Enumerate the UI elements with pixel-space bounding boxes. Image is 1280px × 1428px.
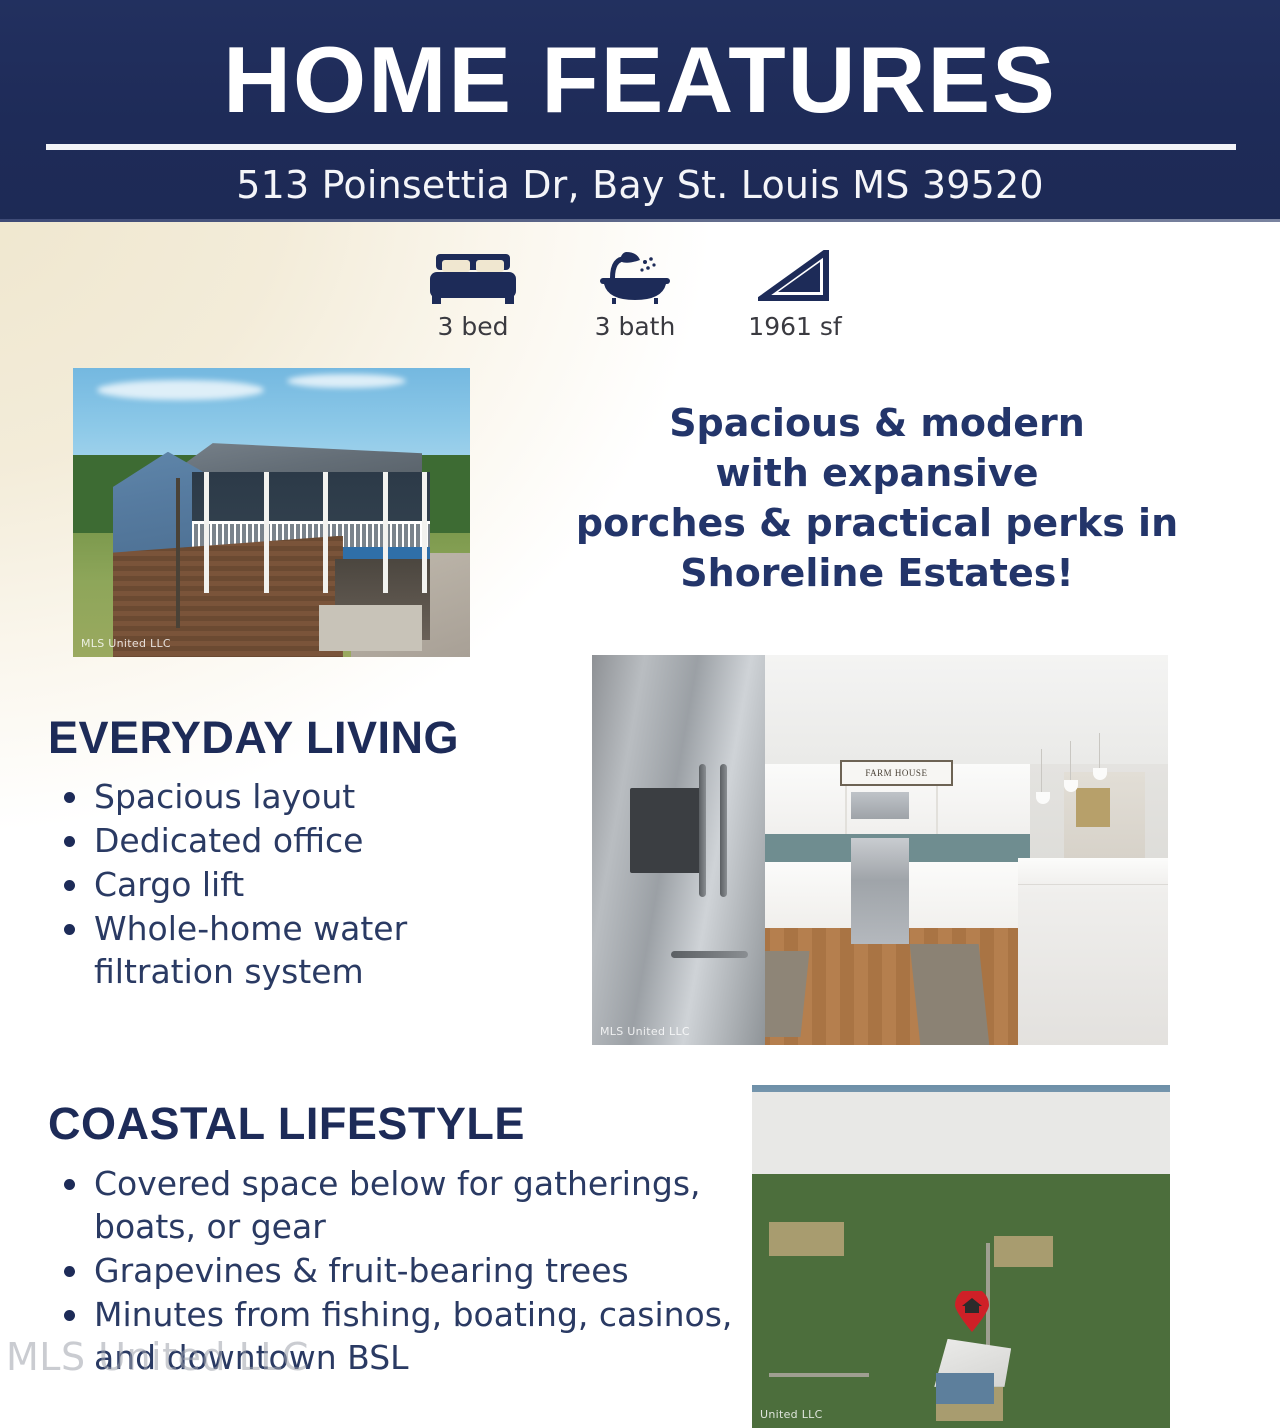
porch-post [422, 472, 427, 593]
flyer-header: HOME FEATURES 513 Poinsettia Dr, Bay St.… [0, 0, 1280, 222]
photo-watermark: MLS United LLC [600, 1025, 690, 1039]
exterior-elevated-home-photo: MLS United LLC [73, 368, 470, 657]
list-item: Spacious layout [48, 775, 518, 818]
stat-bath-label: 3 bath [560, 312, 710, 342]
list-item: Cargo lift [48, 863, 518, 906]
tagline-line-4: Shoreline Estates! [512, 548, 1242, 598]
concrete-slab [319, 605, 422, 651]
clearing [994, 1236, 1053, 1267]
road [769, 1373, 869, 1377]
stat-bed-label: 3 bed [398, 312, 548, 342]
header-divider [46, 144, 1236, 150]
range-oven [851, 838, 909, 943]
porch-post [383, 472, 388, 593]
stat-sqft-label: 1961 sf [720, 312, 870, 342]
kitchen-interior-photo: FARM HOUSE MLS United LLC [592, 655, 1168, 1045]
floor-runner [909, 944, 989, 1045]
list-item: Grapevines & fruit-bearing trees [48, 1249, 738, 1292]
tagline-line-3: porches & practical perks in [512, 498, 1242, 548]
map-pin-home-icon [951, 1291, 993, 1333]
stat-bath: 3 bath [560, 248, 710, 348]
tagline-line-2: with expansive [512, 448, 1242, 498]
pendant-cord [1099, 733, 1100, 772]
photo-watermark: MLS United LLC [81, 637, 171, 651]
tagline-line-1: Spacious & modern [512, 398, 1242, 448]
water-ice-dispenser [630, 788, 706, 874]
framed-artwork [1076, 788, 1111, 827]
list-item: Covered space below for gatherings, boat… [48, 1162, 738, 1248]
freezer-handle [671, 951, 747, 958]
porch-post [323, 472, 328, 593]
subject-property-wall [936, 1373, 995, 1404]
fridge-handle [720, 764, 727, 897]
section-heading-everyday-living: EVERYDAY LIVING [48, 712, 459, 764]
pendant-cord [1070, 741, 1071, 784]
property-address: 513 Poinsettia Dr, Bay St. Louis MS 3952… [0, 160, 1280, 210]
property-tagline: Spacious & modern with expansive porches… [512, 398, 1242, 598]
bed-icon [398, 248, 548, 304]
quartz-countertop [1018, 858, 1168, 885]
clearing [769, 1222, 844, 1256]
cargo-lift-rail [176, 478, 180, 628]
stat-bed: 3 bed [398, 248, 548, 348]
section-heading-coastal-lifestyle: COASTAL LIFESTYLE [48, 1098, 525, 1150]
cloud [97, 380, 264, 400]
square-footage-triangle-icon [720, 248, 870, 304]
page-watermark: MLS United LLC [6, 1334, 309, 1380]
photo-watermark: United LLC [760, 1408, 823, 1422]
everyday-living-bullet-list: Spacious layout Dedicated office Cargo l… [48, 775, 518, 994]
aerial-neighborhood-photo: United LLC [752, 1085, 1170, 1428]
pendant-light [1036, 792, 1050, 804]
kitchen-island [1018, 858, 1168, 1045]
stat-square-footage: 1961 sf [720, 248, 870, 348]
stainless-refrigerator [592, 655, 765, 1045]
porch-post [264, 472, 269, 593]
list-item: Dedicated office [48, 819, 518, 862]
home-features-flyer: HOME FEATURES 513 Poinsettia Dr, Bay St.… [0, 0, 1280, 1428]
property-stats-row: 3 bed 3 bath [398, 248, 868, 348]
microwave [851, 792, 909, 819]
bathtub-shower-icon [560, 248, 710, 304]
porch-post [204, 472, 209, 593]
page-title: HOME FEATURES [0, 28, 1280, 132]
header-bottom-edge [0, 219, 1280, 222]
neighborhood-rooftops [752, 1092, 1170, 1181]
list-item: Whole-home water filtration system [48, 907, 518, 993]
farm-house-sign: FARM HOUSE [840, 760, 953, 785]
fridge-handle [699, 764, 706, 897]
pendant-cord [1041, 749, 1042, 796]
